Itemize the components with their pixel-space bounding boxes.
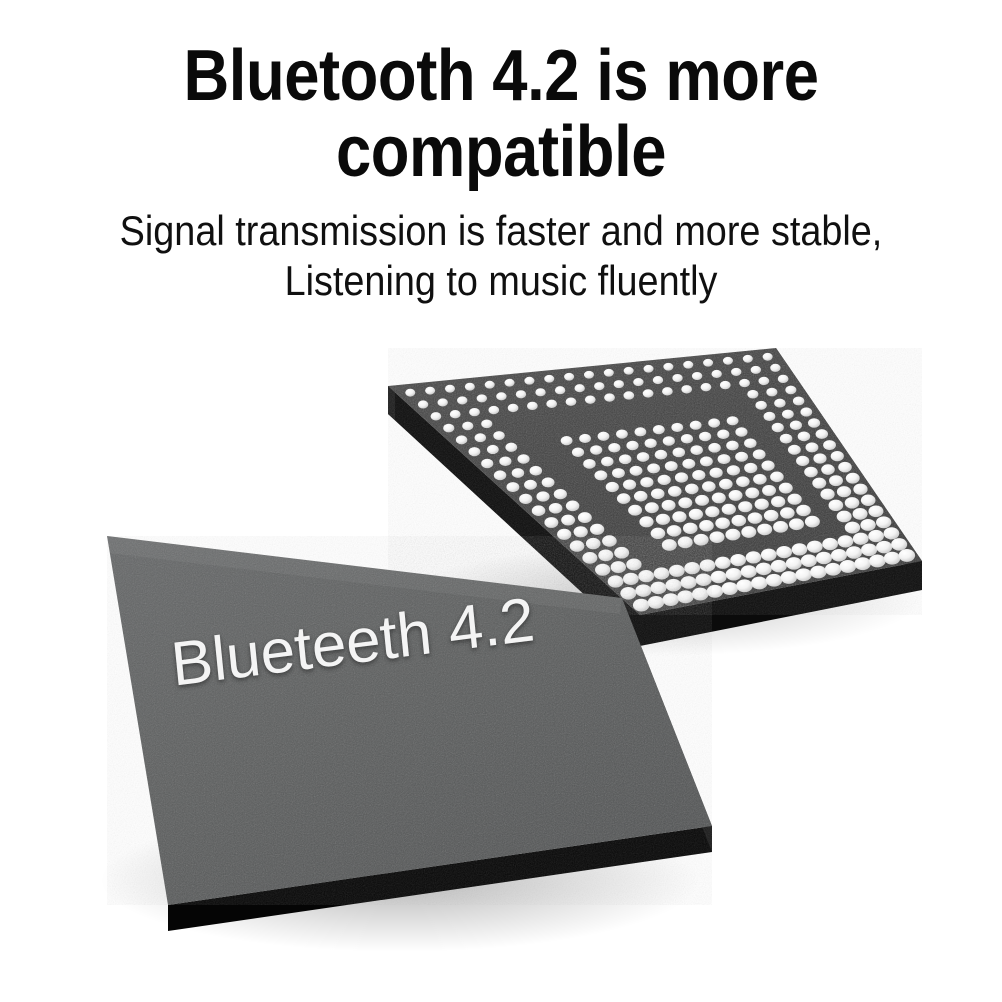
solder-ball [606,482,619,492]
solder-ball [712,492,726,503]
solder-ball [808,418,820,427]
solder-ball [771,496,785,507]
solder-ball [782,410,794,419]
solder-ball [650,582,666,595]
solder-ball [796,456,809,466]
solder-ball [829,475,843,486]
solder-ball [766,388,777,397]
solder-ball [743,355,753,363]
solder-ball [524,377,534,385]
solder-ball [692,372,702,380]
solder-ball [853,484,867,495]
solder-ball [722,582,738,595]
solder-ball [795,568,811,581]
solder-ball [499,457,511,466]
solder-ball [788,494,802,505]
solder-ball [729,490,743,501]
solder-ball [457,396,467,404]
solder-ball [798,431,810,441]
solder-ball [469,447,481,456]
solder-ball [656,514,670,525]
solder-ball [566,501,580,512]
solder-ball [846,546,862,559]
solder-ball [624,367,634,375]
solder-ball [623,573,639,585]
solder-ball [683,523,698,534]
solder-ball [719,479,733,490]
solder-ball [594,470,607,480]
solder-ball [450,410,461,418]
solder-ball [617,493,631,504]
solder-ball [699,520,714,531]
solder-ball [418,400,428,408]
solder-ball [757,524,772,536]
solder-ball [692,588,708,601]
solder-ball [493,431,504,440]
solder-ball [651,528,666,539]
solder-ball [868,505,883,517]
solder-ball [696,573,712,586]
solder-ball [845,522,860,534]
solder-ball [838,535,854,547]
solder-ball [635,584,651,597]
solder-ball [682,459,695,469]
solder-ball [741,526,756,538]
solder-ball [508,404,519,412]
solder-ball [516,390,526,398]
solder-ball [608,575,624,587]
solder-ball [662,539,677,551]
solder-ball [465,383,475,391]
solder-ball [731,368,741,376]
solder-ball [730,554,746,566]
solder-ball [725,529,740,541]
solder-ball [723,357,733,365]
solder-ball [614,547,629,559]
solder-ball [456,435,467,444]
solder-ball [812,478,826,489]
solder-ball [445,385,455,393]
solder-ball [705,506,719,517]
solder-ball [638,570,654,582]
solder-ball [741,565,757,578]
solder-ball [651,488,665,499]
solder-ball [485,381,495,389]
solder-ball [594,382,604,390]
solder-ball [633,599,649,612]
chip-illustration: Blueteeth 4.2 [0,0,1002,1002]
solder-ball [816,552,832,565]
solder-ball [425,387,435,395]
solder-ball [853,533,869,545]
solder-ball [876,516,891,528]
solder-ball [744,463,757,473]
solder-ball [665,579,681,592]
solder-ball [443,424,454,433]
solder-ball [685,484,699,495]
solder-ball [611,561,626,573]
solder-ball [761,460,774,470]
solder-ball [536,491,549,501]
solder-ball [557,529,571,540]
solder-ball [634,427,646,436]
solder-ball [692,470,705,480]
solder-ball [764,510,779,521]
solder-ball [780,434,792,444]
solder-ball [544,517,558,528]
solder-ball [681,576,697,589]
solder-ball [778,375,789,383]
solder-ball [731,515,746,526]
solder-ball [628,505,642,516]
solder-ball [512,468,524,478]
solder-ball [846,473,860,484]
solder-ball [701,383,712,391]
solder-ball [825,563,841,576]
solder-ball [792,543,808,555]
solder-ball [579,434,591,443]
solder-ball [477,394,487,402]
solder-ball [785,386,796,395]
solder-ball [751,366,761,374]
solder-ball [505,379,515,387]
solder-ball [779,483,793,494]
solder-ball [678,537,693,549]
solder-ball [720,381,731,389]
solder-ball [810,566,826,579]
solder-ball [639,516,653,527]
solder-ball [746,551,762,563]
solder-ball [530,466,542,476]
solder-ball [801,554,817,567]
solder-ball [619,454,631,464]
solder-ball [806,442,819,452]
solder-ball [532,505,546,516]
solder-ball [620,587,636,600]
solder-ball [469,408,480,416]
solder-ball [527,402,538,410]
solder-ball [735,452,748,462]
solder-ball [481,459,493,468]
solder-ball [793,396,804,405]
solder-ball [805,516,820,528]
solder-ball [745,488,759,499]
solder-ball [789,518,804,530]
solder-ball [524,480,537,490]
solder-ball [582,552,597,564]
product-banner: Bluetooth 4.2 is more compatible Signal … [0,0,1002,1002]
solder-ball [623,391,634,399]
solder-ball [535,388,545,396]
solder-ball [708,418,720,427]
solder-ball [786,557,802,570]
solder-ball [475,433,486,442]
solder-ball [840,560,856,573]
solder-ball [780,507,795,518]
solder-ball [788,445,801,455]
solder-ball [753,449,766,459]
solder-ball [570,540,585,551]
solder-ball [669,565,685,577]
solder-ball [604,369,614,377]
solder-ball [598,549,613,561]
solder-ball [726,441,738,451]
solder-ball [690,445,702,455]
solder-ball [662,500,676,511]
solder-ball [598,432,610,441]
solder-ball [505,443,517,452]
solder-ball [831,549,847,562]
solder-ball [718,454,731,464]
solder-ball [868,530,884,542]
solder-ball [648,596,664,609]
solder-ball [869,555,885,568]
solder-ball [496,392,506,400]
solder-ball [744,438,756,448]
solder-ball [751,577,767,590]
solder-ball [715,517,730,528]
solder-ball [653,376,663,384]
chip-illustration-svg [0,0,1002,1002]
solder-ball [700,559,716,571]
solder-ball [672,511,686,522]
solder-ball [658,475,671,485]
solder-ball [519,494,532,504]
solder-ball [837,511,852,523]
solder-ball [717,430,729,439]
solder-ball [462,422,473,431]
solder-ball [884,527,900,539]
solder-ball [838,462,852,473]
solder-ball [654,567,670,579]
solder-ball [776,546,792,558]
solder-ball [494,470,506,480]
solder-ball [517,454,529,463]
solder-ball [626,441,638,450]
solder-ball [630,466,643,476]
solder-ball [711,571,727,584]
solder-ball [772,423,784,432]
solder-ball [748,512,763,523]
solder-ball [854,557,870,570]
solder-ball [820,489,834,500]
solder-ball [684,562,700,574]
solder-ball [623,479,636,489]
solder-ball [665,461,678,471]
solder-ball [726,568,742,581]
solder-ball [753,474,767,485]
solder-ball [710,531,725,543]
solder-ball [770,364,780,372]
solder-ball [671,423,683,432]
solder-ball [735,427,747,436]
solder-ball [663,436,675,445]
solder-ball [755,499,769,510]
solder-ball [555,386,565,394]
solder-ball [807,541,823,553]
solder-ball [583,459,595,469]
solder-ball [488,406,499,414]
solder-ball [736,579,752,592]
solder-ball [663,593,679,606]
solder-ball [715,557,731,569]
solder-ball [564,373,574,381]
solder-ball [584,371,594,379]
solder-ball [667,525,682,536]
solder-ball [695,495,709,506]
solder-ball [790,421,802,430]
solder-ball [747,390,758,399]
solder-ball [773,521,788,533]
solder-ball [677,590,693,603]
solder-ball [655,450,667,460]
solder-ball [574,526,588,537]
solder-ball [703,359,713,367]
solder-ball [590,445,602,454]
solder-ball [796,505,811,516]
solder-ball [645,439,657,448]
solder-ball [853,508,868,520]
solder-ball [710,468,723,478]
solder-ball [756,563,772,576]
solder-ball [727,465,740,475]
solder-ball [781,571,797,584]
solder-ball [614,380,624,388]
solder-ball [626,558,641,570]
solder-ball [549,503,563,514]
solder-ball [689,509,703,520]
solder-ball [561,515,575,526]
solder-ball [572,448,584,457]
solder-ball [738,501,752,512]
solder-ball [566,398,577,406]
solder-ball [739,379,750,387]
solder-ball [681,385,692,393]
solder-ball [675,472,688,482]
solder-ball [645,502,659,513]
solder-ball [643,389,654,397]
solder-ball [481,420,492,429]
solder-ball [554,489,567,499]
solder-ball [437,398,447,406]
solder-ball [585,395,596,403]
solder-ball [708,443,720,453]
solder-ball [601,457,613,467]
solder-ball [845,497,860,508]
solder-ball [542,477,555,487]
solder-ball [595,564,610,576]
solder-ball [707,585,723,598]
solder-ball [823,440,836,450]
solder-ball [763,353,773,361]
solder-ball [727,416,739,425]
solder-ball [831,451,844,461]
solder-ball [837,486,851,497]
solder-ball [637,452,649,462]
solder-ball [884,552,900,565]
solder-ball [762,485,776,496]
solder-ball [604,393,615,401]
solder-ball [681,434,693,443]
solder-ball [770,472,784,483]
solder-ball [672,374,682,382]
solder-ball [590,524,604,535]
solder-ball [700,456,713,466]
solder-ball [771,560,787,573]
solder-ball [431,412,442,420]
solder-ball [755,401,766,410]
solder-ball [544,375,554,383]
solder-ball [690,421,702,430]
solder-ball [633,378,643,386]
solder-ball [683,361,693,369]
solder-ball [736,476,750,487]
solder-ball [813,453,826,463]
solder-ball [804,467,818,478]
solder-ball [899,549,915,562]
solder-ball [616,429,628,438]
solder-ball [821,464,835,475]
solder-ball [506,482,519,492]
solder-ball [860,519,875,531]
solder-ball [602,535,617,546]
solder-ball [612,468,625,478]
solder-ball [861,495,876,506]
solder-ball [578,512,592,523]
solder-ball [561,436,573,445]
solder-ball [758,377,769,385]
solder-ball [774,399,785,408]
solder-ball [668,486,682,497]
solder-ball [822,538,838,550]
solder-ball [800,407,812,416]
solder-ball [673,448,685,458]
solder-ball [647,463,660,473]
solder-ball [546,400,557,408]
solder-ball [816,429,828,439]
solder-ball [662,387,673,395]
solder-ball [694,534,709,546]
solder-ball [640,477,653,487]
solder-ball [766,574,782,587]
solder-ball [876,541,892,554]
solder-ball [699,432,711,441]
solder-ball [678,497,692,508]
solder-ball [663,363,673,371]
solder-ball [644,365,654,373]
solder-ball [829,500,844,511]
solder-ball [405,389,415,397]
solder-ball [608,443,620,452]
solder-ball [487,445,499,454]
solder-ball [891,538,907,551]
solder-ball [761,549,777,561]
solder-ball [861,544,877,557]
solder-ball [764,412,776,421]
solder-ball [586,538,601,549]
solder-ball [722,504,736,515]
solder-ball [634,491,648,502]
solder-ball [702,481,716,492]
solder-ball [653,425,665,434]
solder-ball [574,384,584,392]
solder-ball [712,370,722,378]
